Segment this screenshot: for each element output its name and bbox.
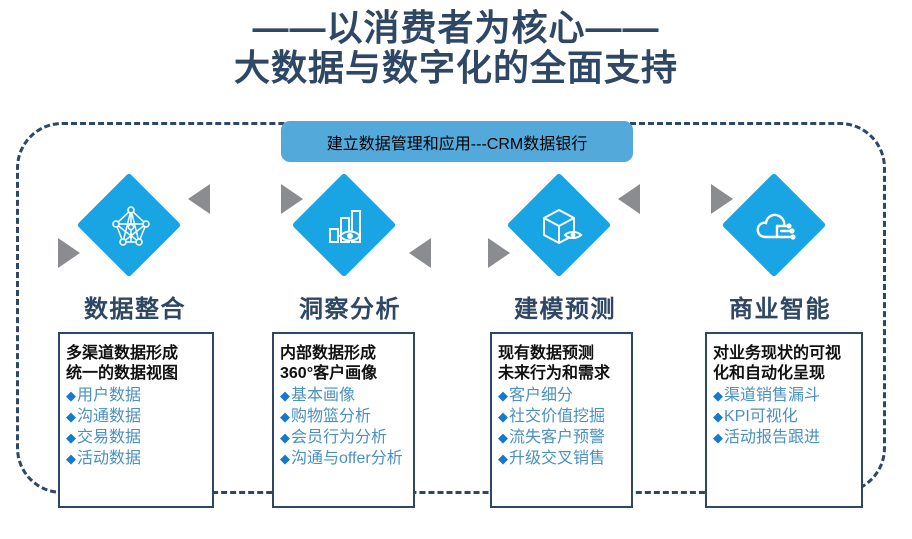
pillar-detail-card: 对业务现状的可视 化和自动化呈现 ◆渠道销售漏斗 ◆KPI可视化 ◆活动报告跟进 [705,332,863,508]
pillar-heading: 数据整合 [36,294,234,326]
card-headline: 内部数据形成 360°客户画像 [280,344,405,383]
diamond-bullet-icon: ◆ [66,387,76,404]
diamond-bullet-icon: ◆ [280,450,290,467]
page-title: ——以消费者为核心—— 大数据与数字化的全面支持 [0,8,912,89]
diamond-bullet-icon: ◆ [280,387,290,404]
list-item-label: 社交价值挖掘 [509,406,605,427]
icon-area [681,178,879,288]
triangle-marker-icon [618,184,640,214]
list-item: ◆会员行为分析 [280,427,405,448]
pillar-column-modeling-prediction: 建模预测 现有数据预测 未来行为和需求 ◆客户细分 ◆社交价值挖掘 ◆流失客户预… [466,178,664,508]
list-item-label: 购物篮分析 [291,406,371,427]
diamond-bullet-icon: ◆ [66,429,76,446]
list-item-label: 活动数据 [77,448,141,469]
list-item-label: 渠道销售漏斗 [724,385,820,406]
pillar-column-insight-analysis: 洞察分析 内部数据形成 360°客户画像 ◆基本画像 ◆ 购物篮分析 ◆会员行为… [251,178,449,508]
diamond-bullet-icon: ◆ [713,387,723,404]
pillar-heading: 商业智能 [681,294,879,326]
list-item: ◆交易数据 [66,427,204,448]
diamond-bullet-icon: ◆ [280,408,290,425]
bullet-list: ◆客户细分 ◆社交价值挖掘 ◆流失客户预警 ◆升级交叉销售 [498,385,623,469]
triangle-marker-icon [281,184,303,214]
card-headline: 多渠道数据形成 统一的数据视图 [66,344,204,383]
pillar-heading: 洞察分析 [251,294,449,326]
icon-area [251,178,449,288]
list-item: ◆ 购物篮分析 [280,406,405,427]
diamond-bullet-icon: ◆ [66,450,76,467]
diamond-bullet-icon: ◆ [498,429,508,446]
diamond-tile [77,173,182,278]
triangle-marker-icon [409,238,431,268]
triangle-marker-icon [711,184,733,214]
diamond-bullet-icon: ◆ [498,408,508,425]
pillar-column-business-intelligence: 商业智能 对业务现状的可视 化和自动化呈现 ◆渠道销售漏斗 ◆KPI可视化 ◆活… [681,178,879,508]
bullet-list: ◆用户数据 ◆沟通数据 ◆交易数据 ◆活动数据 [66,385,204,469]
list-item-label: 交易数据 [77,427,141,448]
card-headline: 对业务现状的可视 化和自动化呈现 [713,344,853,383]
banner-label: 建立数据管理和应用---CRM数据银行 [327,130,587,154]
diamond-bullet-icon: ◆ [713,408,723,425]
list-item-label: 流失客户预警 [509,427,605,448]
list-item: ◆渠道销售漏斗 [713,385,853,406]
diamond-bullet-icon: ◆ [66,408,76,425]
pillar-column-data-integration: 数据整合 多渠道数据形成 统一的数据视图 ◆用户数据 ◆沟通数据 ◆交易数据 ◆… [36,178,234,508]
list-item-label: 基本画像 [291,385,355,406]
diamond-tile [507,173,612,278]
icon-area [466,178,664,288]
pillar-detail-card: 多渠道数据形成 统一的数据视图 ◆用户数据 ◆沟通数据 ◆交易数据 ◆活动数据 [58,332,214,508]
diamond-bullet-icon: ◆ [498,387,508,404]
diamond-bullet-icon: ◆ [713,429,723,446]
triangle-marker-icon [188,184,210,214]
list-item-label: 用户数据 [77,385,141,406]
pillar-detail-card: 现有数据预测 未来行为和需求 ◆客户细分 ◆社交价值挖掘 ◆流失客户预警 ◆升级… [490,332,633,508]
list-item: ◆升级交叉销售 [498,448,623,469]
list-item-label: 活动报告跟进 [724,427,820,448]
list-item: ◆社交价值挖掘 [498,406,623,427]
diamond-tile [292,173,397,278]
list-item: ◆沟通与offer分析 [280,448,405,469]
pillar-heading: 建模预测 [466,294,664,326]
triangle-marker-icon [58,238,80,268]
title-line-secondary: 大数据与数字化的全面支持 [0,48,912,88]
list-item-label: 沟通数据 [77,406,141,427]
list-item: ◆基本画像 [280,385,405,406]
list-item-label: KPI可视化 [724,406,798,427]
bullet-list: ◆基本画像 ◆ 购物篮分析 ◆会员行为分析 ◆沟通与offer分析 [280,385,405,469]
list-item: ◆沟通数据 [66,406,204,427]
list-item: ◆客户细分 [498,385,623,406]
list-item: ◆活动数据 [66,448,204,469]
diamond-tile [722,173,827,278]
card-headline: 现有数据预测 未来行为和需求 [498,344,623,383]
title-line-primary: ——以消费者为核心—— [0,8,912,48]
diamond-bullet-icon: ◆ [280,429,290,446]
list-item: ◆活动报告跟进 [713,427,853,448]
pillar-detail-card: 内部数据形成 360°客户画像 ◆基本画像 ◆ 购物篮分析 ◆会员行为分析 ◆沟… [272,332,415,508]
icon-area [36,178,234,288]
list-item: ◆用户数据 [66,385,204,406]
list-item-label: 会员行为分析 [291,427,387,448]
banner-crm-data-bank: 建立数据管理和应用---CRM数据银行 [281,121,633,162]
list-item: ◆流失客户预警 [498,427,623,448]
list-item-label: 沟通与offer分析 [291,448,403,469]
list-item: ◆KPI可视化 [713,406,853,427]
bullet-list: ◆渠道销售漏斗 ◆KPI可视化 ◆活动报告跟进 [713,385,853,448]
triangle-marker-icon [488,238,510,268]
diamond-bullet-icon: ◆ [498,450,508,467]
list-item-label: 升级交叉销售 [509,448,605,469]
list-item-label: 客户细分 [509,385,573,406]
